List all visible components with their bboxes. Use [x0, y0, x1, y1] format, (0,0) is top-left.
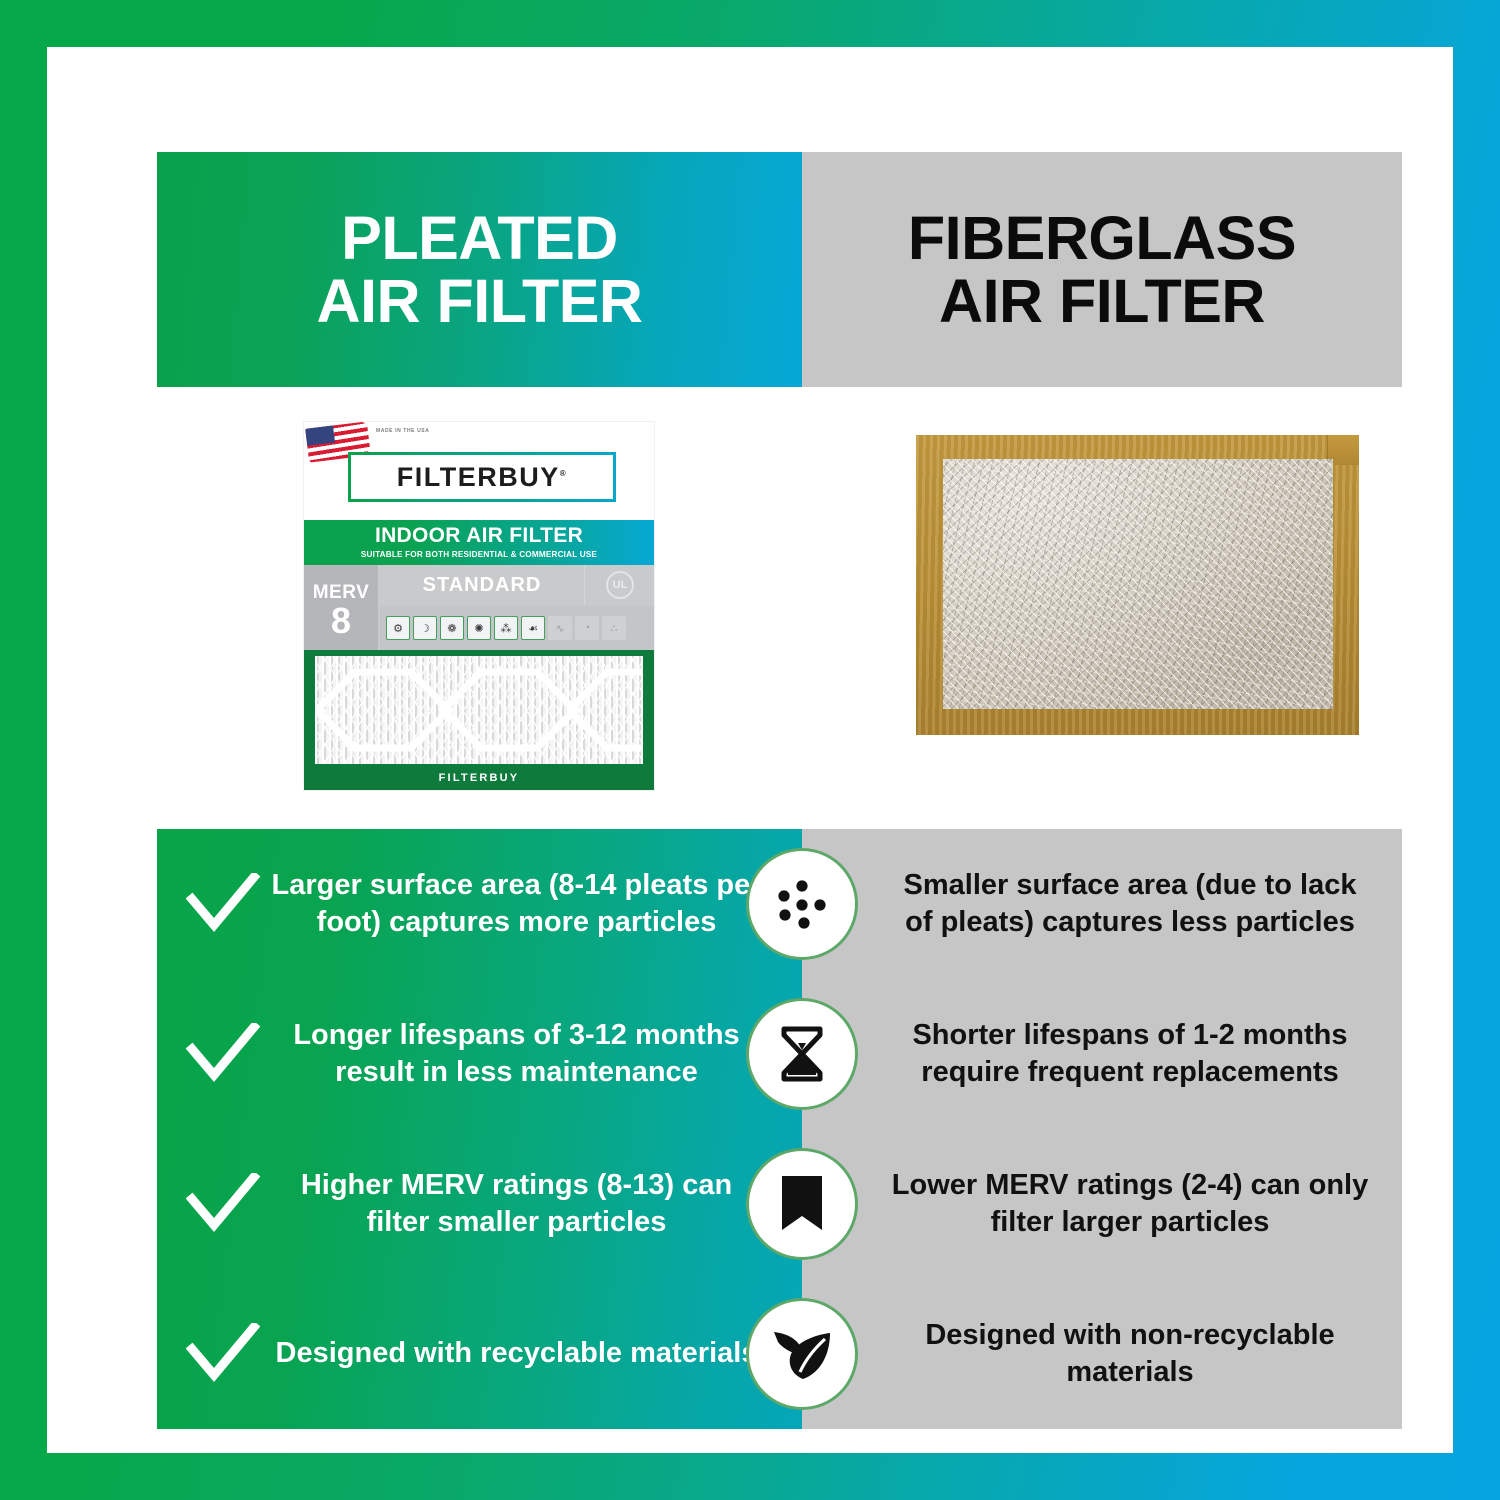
pleated-media-view: FILTERBUY	[304, 650, 654, 790]
certification-cell: UL	[586, 565, 654, 605]
header-pleated: PLEATED AIR FILTER	[157, 152, 802, 387]
row-left-4: Designed with recyclable materials	[157, 1279, 802, 1429]
comparison-row: Designed with recyclable materials Desig…	[157, 1279, 1402, 1429]
dust-mites-icon: ⁂	[494, 616, 518, 640]
package-spec-strip: MERV 8 STANDARD UL ⚙ ☽ ❁ ✺ ⁂	[304, 565, 654, 650]
row-right-1: Smaller surface area (due to lack of ple…	[802, 829, 1402, 979]
leaf-recyclable-icon	[754, 1306, 850, 1402]
fiberglass-fiber-texture	[943, 459, 1333, 709]
pollen-icon: ☽	[413, 616, 437, 640]
row-right-text-4: Designed with non-recyclable materials	[802, 1317, 1402, 1391]
row-right-3: Lower MERV ratings (2-4) can only filter…	[802, 1129, 1402, 1279]
bookmark-icon	[754, 1156, 850, 1252]
row-left-text-2: Longer lifespans of 3-12 months result i…	[267, 1017, 802, 1091]
pleat-folds	[315, 656, 643, 764]
mold-spores-icon: ✺	[467, 616, 491, 640]
footer-brand-text: FILTERBUY	[439, 772, 520, 784]
row-left-1: Larger surface area (8-14 pleats per foo…	[157, 829, 802, 979]
comparison-rows: Larger surface area (8-14 pleats per foo…	[157, 829, 1402, 1429]
row-right-2: Shorter lifespans of 1-2 months require …	[802, 979, 1402, 1129]
virus-icon: ∴	[602, 616, 626, 640]
outer-gradient-frame: PLEATED AIR FILTER FIBERGLASS AIR FILTER…	[0, 0, 1500, 1500]
row-left-2: Longer lifespans of 3-12 months result i…	[157, 979, 802, 1129]
brand-logo-box: FILTERBUY®	[348, 452, 616, 502]
dust-lint-icon: ⚙	[386, 616, 410, 640]
merv-value: 8	[304, 604, 378, 638]
pleat-wire-support	[315, 656, 643, 764]
filtration-icon-strip: ⚙ ☽ ❁ ✺ ⁂ ☙ ∿ ◔ ∴	[380, 606, 654, 650]
header-pleated-title: PLEATED AIR FILTER	[317, 207, 643, 333]
fiberglass-media	[943, 459, 1333, 709]
merv-rating-cell: MERV 8	[304, 565, 378, 650]
smoke-icon: ◔	[575, 616, 599, 640]
comparison-row: Larger surface area (8-14 pleats per foo…	[157, 829, 1402, 979]
grade-label: STANDARD	[423, 574, 542, 597]
content-canvas: PLEATED AIR FILTER FIBERGLASS AIR FILTER…	[47, 47, 1453, 1453]
product-images-row: MADE IN THE USA FILTERBUY® INDOOR AIR FI…	[157, 402, 1402, 817]
mold-icon: ❁	[440, 616, 464, 640]
particles-dots-icon	[754, 856, 850, 952]
hourglass-icon	[754, 1006, 850, 1102]
row-right-text-1: Smaller surface area (due to lack of ple…	[802, 867, 1402, 941]
fiberglass-filter-product-image	[916, 435, 1359, 735]
pleated-filter-product-image: MADE IN THE USA FILTERBUY® INDOOR AIR FI…	[304, 422, 654, 790]
row-left-text-1: Larger surface area (8-14 pleats per foo…	[267, 867, 802, 941]
row-right-text-2: Shorter lifespans of 1-2 months require …	[802, 1017, 1402, 1091]
header-fiberglass: FIBERGLASS AIR FILTER	[802, 152, 1402, 387]
grade-cell: STANDARD	[380, 565, 585, 605]
header-row: PLEATED AIR FILTER FIBERGLASS AIR FILTER	[157, 152, 1402, 387]
header-fiberglass-title: FIBERGLASS AIR FILTER	[908, 207, 1296, 333]
brand-name: FILTERBUY®	[397, 462, 567, 493]
check-icon	[179, 1023, 267, 1085]
bacteria-icon: ∿	[548, 616, 572, 640]
package-footer-brand: FILTERBUY	[304, 766, 654, 790]
comparison-row: Higher MERV ratings (8-13) can filter sm…	[157, 1129, 1402, 1279]
check-icon	[179, 1323, 267, 1385]
row-right-text-3: Lower MERV ratings (2-4) can only filter…	[802, 1167, 1402, 1241]
row-right-4: Designed with non-recyclable materials	[802, 1279, 1402, 1429]
comparison-row: Longer lifespans of 3-12 months result i…	[157, 979, 1402, 1129]
pet-dander-icon: ☙	[521, 616, 545, 640]
package-banner: INDOOR AIR FILTER SUITABLE FOR BOTH RESI…	[304, 520, 654, 565]
check-icon	[179, 873, 267, 935]
ul-certification-icon: UL	[606, 571, 634, 599]
made-in-usa-label: MADE IN THE USA	[376, 428, 429, 436]
banner-title: INDOOR AIR FILTER	[304, 524, 654, 548]
banner-subtitle: SUITABLE FOR BOTH RESIDENTIAL & COMMERCI…	[304, 550, 654, 559]
row-left-text-3: Higher MERV ratings (8-13) can filter sm…	[267, 1167, 802, 1241]
row-left-3: Higher MERV ratings (8-13) can filter sm…	[157, 1129, 802, 1279]
row-left-text-4: Designed with recyclable materials	[267, 1335, 802, 1372]
comparison-section: Larger surface area (8-14 pleats per foo…	[157, 829, 1402, 1429]
check-icon	[179, 1173, 267, 1235]
